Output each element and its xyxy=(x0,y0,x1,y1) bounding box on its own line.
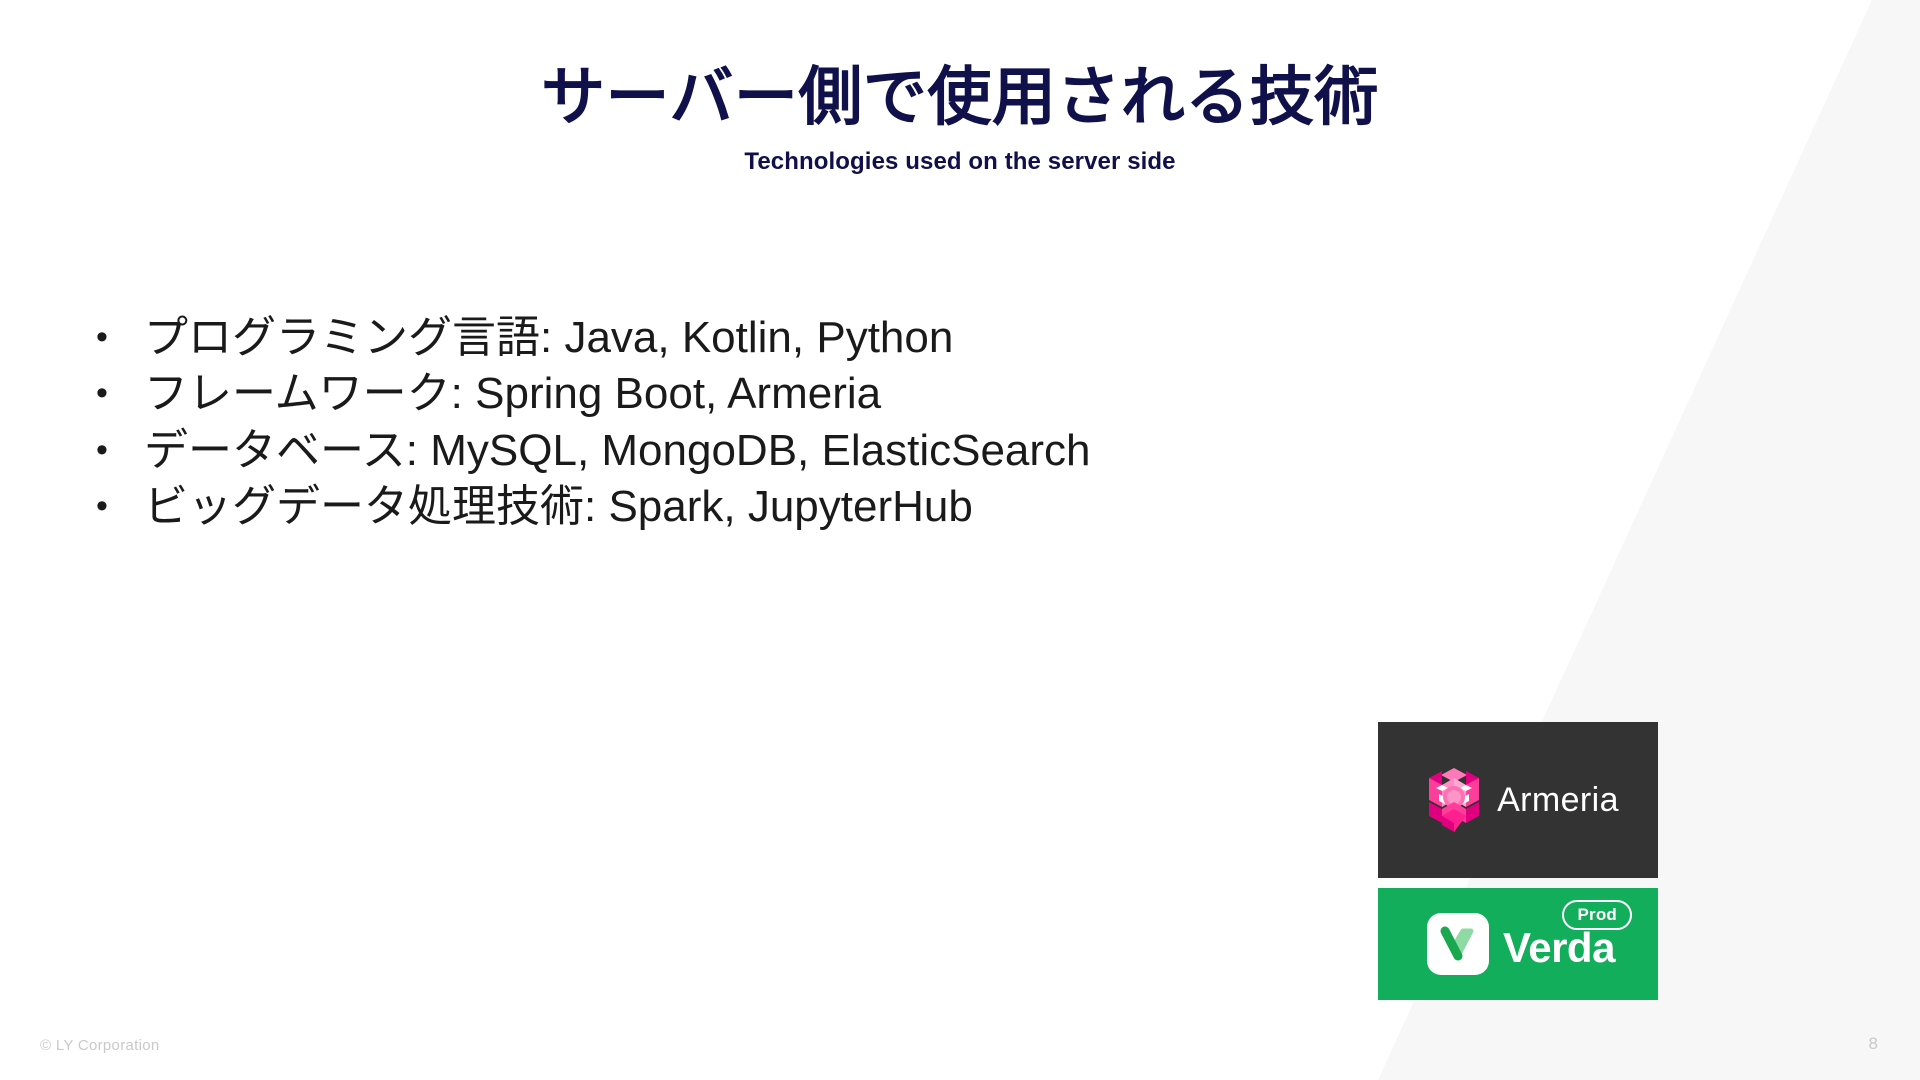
verda-env-badge: Prod xyxy=(1562,900,1632,930)
page-subtitle: Technologies used on the server side xyxy=(0,148,1920,176)
bullet-point-icon: • xyxy=(96,433,144,467)
bullet-list: • プログラミング言語: Java, Kotlin, Python • フレーム… xyxy=(96,310,1396,535)
verda-logo-card: Verda Prod xyxy=(1378,888,1658,1000)
list-item-text: データベース: MySQL, MongoDB, ElasticSearch xyxy=(144,423,1396,479)
armeria-cube-icon xyxy=(1423,766,1485,834)
list-item: • プログラミング言語: Java, Kotlin, Python xyxy=(96,310,1396,366)
list-item-text: ビッグデータ処理技術: Spark, JupyterHub xyxy=(144,479,1396,535)
slide-canvas: サーバー側で使用される技術 Technologies used on the s… xyxy=(0,0,1920,1080)
verda-wordmark: Verda xyxy=(1503,924,1615,972)
armeria-wordmark: Armeria xyxy=(1497,781,1619,820)
list-item: • フレームワーク: Spring Boot, Armeria xyxy=(96,366,1396,422)
bullet-point-icon: • xyxy=(96,489,144,523)
footer-page-number: 8 xyxy=(1869,1034,1878,1054)
bullet-point-icon: • xyxy=(96,376,144,410)
footer-copyright: © LY Corporation xyxy=(40,1037,160,1054)
bullet-point-icon: • xyxy=(96,320,144,354)
verda-v-check-icon xyxy=(1427,913,1489,975)
page-title: サーバー側で使用される技術 xyxy=(0,62,1920,134)
list-item: • データベース: MySQL, MongoDB, ElasticSearch xyxy=(96,423,1396,479)
logo-stack: Armeria Verda Prod xyxy=(1378,722,1658,1000)
list-item-text: フレームワーク: Spring Boot, Armeria xyxy=(144,366,1396,422)
armeria-logo-card: Armeria xyxy=(1378,722,1658,878)
list-item-text: プログラミング言語: Java, Kotlin, Python xyxy=(144,310,1396,366)
list-item: • ビッグデータ処理技術: Spark, JupyterHub xyxy=(96,479,1396,535)
title-block: サーバー側で使用される技術 Technologies used on the s… xyxy=(0,62,1920,176)
